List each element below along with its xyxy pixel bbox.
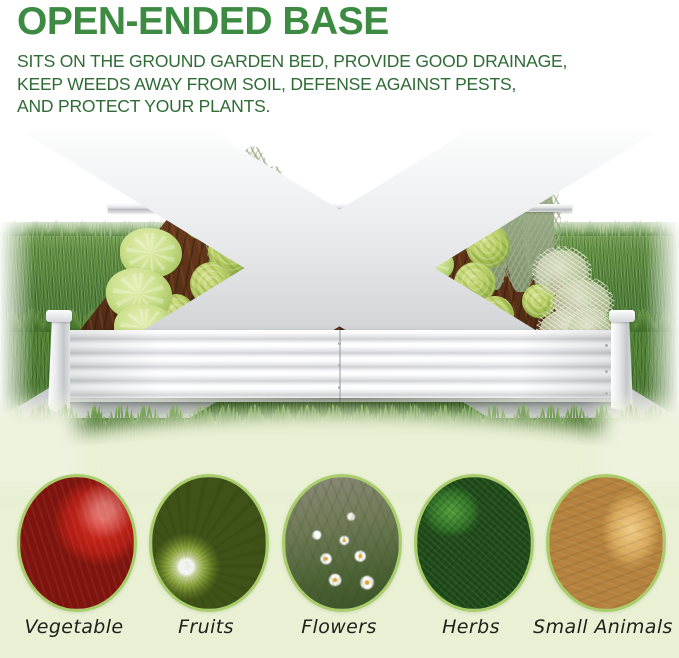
fruits-photo-fill: [152, 477, 266, 609]
category-band: VegetableFruitsFlowersHerbsSmall Animals: [0, 464, 679, 658]
panel-rivet: [605, 370, 608, 373]
fruits-photo[interactable]: [149, 474, 269, 612]
bed-corner-cap-right: [609, 310, 635, 322]
panel-rivet: [338, 342, 341, 345]
small-animals-photo-fill: [549, 477, 663, 609]
vegetable-photo[interactable]: [17, 474, 137, 612]
herbs-photo-fill: [417, 477, 531, 609]
vegetable-photo-fill: [20, 477, 134, 609]
product-feature-image: OPEN-ENDED BASE SITS ON THE GROUND GARDE…: [0, 0, 679, 658]
bed-corner-cap-left: [46, 310, 72, 322]
category-list: VegetableFruitsFlowersHerbsSmall Animals: [0, 464, 679, 658]
flowers-photo-fill: [285, 477, 399, 609]
header-text-block: OPEN-ENDED BASE SITS ON THE GROUND GARDE…: [0, 0, 679, 132]
page-subtitle: SITS ON THE GROUND GARDEN BED, PROVIDE G…: [17, 50, 567, 118]
subtitle-line-1: SITS ON THE GROUND GARDEN BED, PROVIDE G…: [17, 50, 567, 73]
subtitle-line-3: AND PROTECT YOUR PLANTS.: [17, 95, 567, 118]
flowers-photo[interactable]: [282, 474, 402, 612]
category-label-small-animals: Small Animals: [513, 616, 679, 638]
subtitle-line-2: KEEP WEEDS AWAY FROM SOIL, DEFENSE AGAIN…: [17, 73, 567, 96]
panel-rivet: [605, 344, 608, 347]
small-animals-photo[interactable]: [546, 474, 666, 612]
herbs-photo[interactable]: [414, 474, 534, 612]
panel-rivet: [338, 364, 341, 367]
raised-garden-bed: [0, 118, 679, 418]
page-title: OPEN-ENDED BASE: [17, 1, 389, 43]
